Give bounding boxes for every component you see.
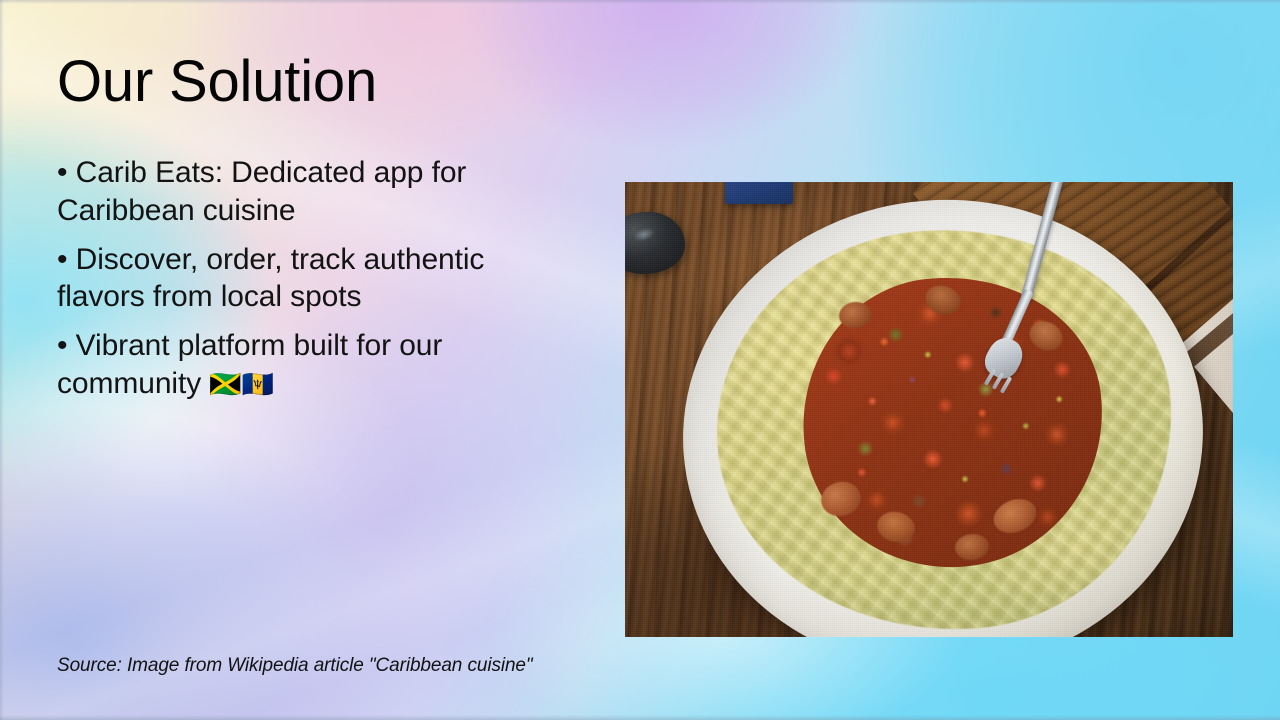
slide-title: Our Solution bbox=[57, 52, 377, 113]
presentation-slide: Our Solution • Carib Eats: Dedicated app… bbox=[0, 0, 1280, 720]
photo-noise bbox=[625, 182, 1233, 637]
bullet-marker-icon: • bbox=[57, 329, 67, 362]
bullet-text-2: Discover, order, track authentic flavors… bbox=[57, 243, 484, 314]
bullet-item-1: • Carib Eats: Dedicated app for Caribbea… bbox=[57, 154, 577, 230]
bullet-text-1: Carib Eats: Dedicated app for Caribbean … bbox=[57, 156, 466, 227]
bullet-marker-icon: • bbox=[57, 243, 67, 276]
bullet-item-2: • Discover, order, track authentic flavo… bbox=[57, 241, 577, 317]
country-flags-icon: 🇯🇲🇧🇧 bbox=[209, 369, 274, 399]
bullet-list: • Carib Eats: Dedicated app for Caribbea… bbox=[57, 154, 577, 414]
source-caption: Source: Image from Wikipedia article "Ca… bbox=[57, 655, 533, 677]
bullet-marker-icon: • bbox=[57, 156, 67, 189]
bullet-item-3: • Vibrant platform built for our communi… bbox=[57, 327, 577, 403]
food-photo bbox=[625, 182, 1233, 637]
